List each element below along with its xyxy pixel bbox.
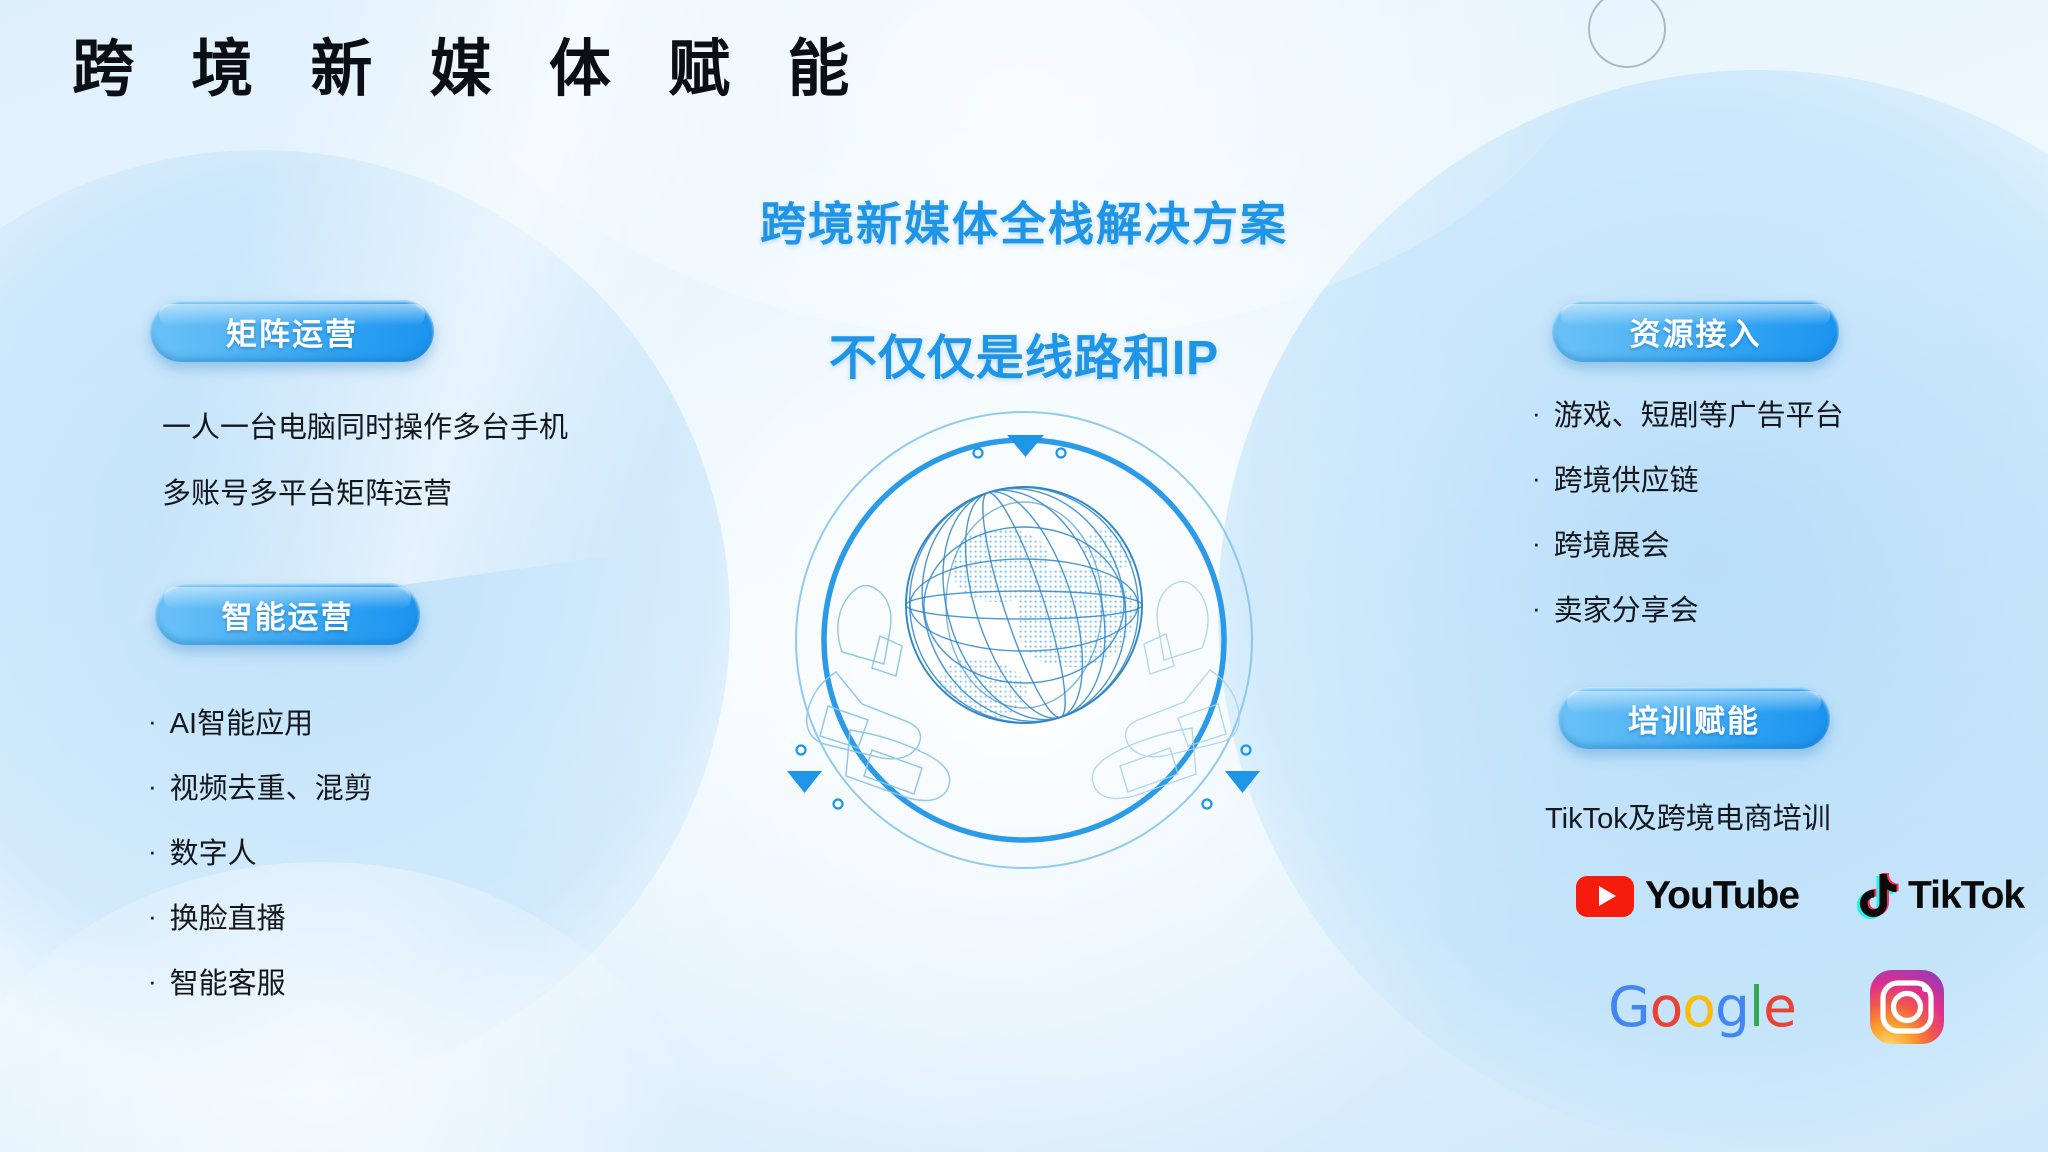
list-item-label: AI智能应用	[170, 700, 313, 742]
right-list-item-4: · 卖家分享会	[1532, 587, 1699, 629]
left-list-item-3: · 数字人	[148, 830, 257, 872]
page-title: 跨 境 新 媒 体 赋 能	[72, 36, 869, 104]
google-logo[interactable]: Google	[1608, 975, 1796, 1039]
left-text-matrix-2: 多账号多平台矩阵运营	[162, 470, 452, 512]
bullet-icon: ·	[148, 708, 157, 734]
left-list-item-5: · 智能客服	[148, 960, 286, 1002]
list-item-label: 游戏、短剧等广告平台	[1554, 392, 1844, 434]
instagram-logo[interactable]	[1868, 968, 1946, 1046]
bullet-icon: ·	[148, 968, 157, 994]
badge-label: 矩阵运营	[226, 309, 358, 354]
tiktok-logo[interactable]: TikTok	[1857, 872, 2024, 920]
decorative-circle-icon	[1588, 0, 1666, 68]
bullet-icon: ·	[1532, 465, 1541, 491]
badge-label: 智能运营	[222, 592, 354, 637]
right-list-item-2: · 跨境供应链	[1532, 457, 1699, 499]
bullet-icon: ·	[1532, 595, 1541, 621]
center-headline-primary: 跨境新媒体全栈解决方案	[0, 188, 2048, 254]
list-item-label: 数字人	[170, 830, 257, 872]
logo-row-top: YouTube TikTok	[1576, 872, 2024, 920]
youtube-logo[interactable]: YouTube	[1576, 874, 1799, 918]
left-list-item-2: · 视频去重、混剪	[148, 765, 373, 807]
right-list-item-3: · 跨境展会	[1532, 522, 1670, 564]
badge-training-empowerment[interactable]: 培训赋能	[1558, 687, 1830, 749]
logo-row-bottom: Google	[1608, 968, 1946, 1046]
bullet-icon: ·	[148, 838, 157, 864]
background-blob-bottom-left	[0, 862, 700, 1152]
badge-label: 培训赋能	[1628, 696, 1760, 741]
youtube-label: YouTube	[1645, 874, 1799, 918]
badge-resource-access[interactable]: 资源接入	[1552, 300, 1839, 362]
tiktok-note-icon	[1857, 872, 1899, 920]
right-text-training: TikTok及跨境电商培训	[1545, 795, 1831, 837]
slide-canvas: 跨 境 新 媒 体 赋 能 跨境新媒体全栈解决方案 不仅仅是线路和IP 矩阵运营…	[0, 0, 2048, 1152]
youtube-play-icon	[1576, 876, 1634, 917]
badge-matrix-operations[interactable]: 矩阵运营	[150, 300, 434, 362]
badge-label: 资源接入	[1630, 309, 1762, 354]
list-item-label: 换脸直播	[170, 895, 286, 937]
list-item-label: 跨境展会	[1554, 522, 1670, 564]
globe-in-hands-graphic	[784, 400, 1264, 870]
list-item-label: 智能客服	[170, 960, 286, 1002]
left-text-matrix-1: 一人一台电脑同时操作多台手机	[162, 404, 568, 446]
tiktok-label: TikTok	[1908, 874, 2024, 918]
left-list-item-4: · 换脸直播	[148, 895, 286, 937]
list-item-label: 视频去重、混剪	[170, 765, 373, 807]
bullet-icon: ·	[148, 903, 157, 929]
list-item-label: 卖家分享会	[1554, 587, 1699, 629]
globe-illustration-icon	[784, 400, 1264, 870]
left-list-item-1: · AI智能应用	[148, 700, 313, 742]
instagram-camera-icon	[1868, 968, 1946, 1046]
list-item-label: 跨境供应链	[1554, 457, 1699, 499]
badge-intelligent-operations[interactable]: 智能运营	[155, 583, 420, 645]
bullet-icon: ·	[1532, 400, 1541, 426]
right-list-item-1: · 游戏、短剧等广告平台	[1532, 392, 1844, 434]
bullet-icon: ·	[148, 773, 157, 799]
bullet-icon: ·	[1532, 530, 1541, 556]
